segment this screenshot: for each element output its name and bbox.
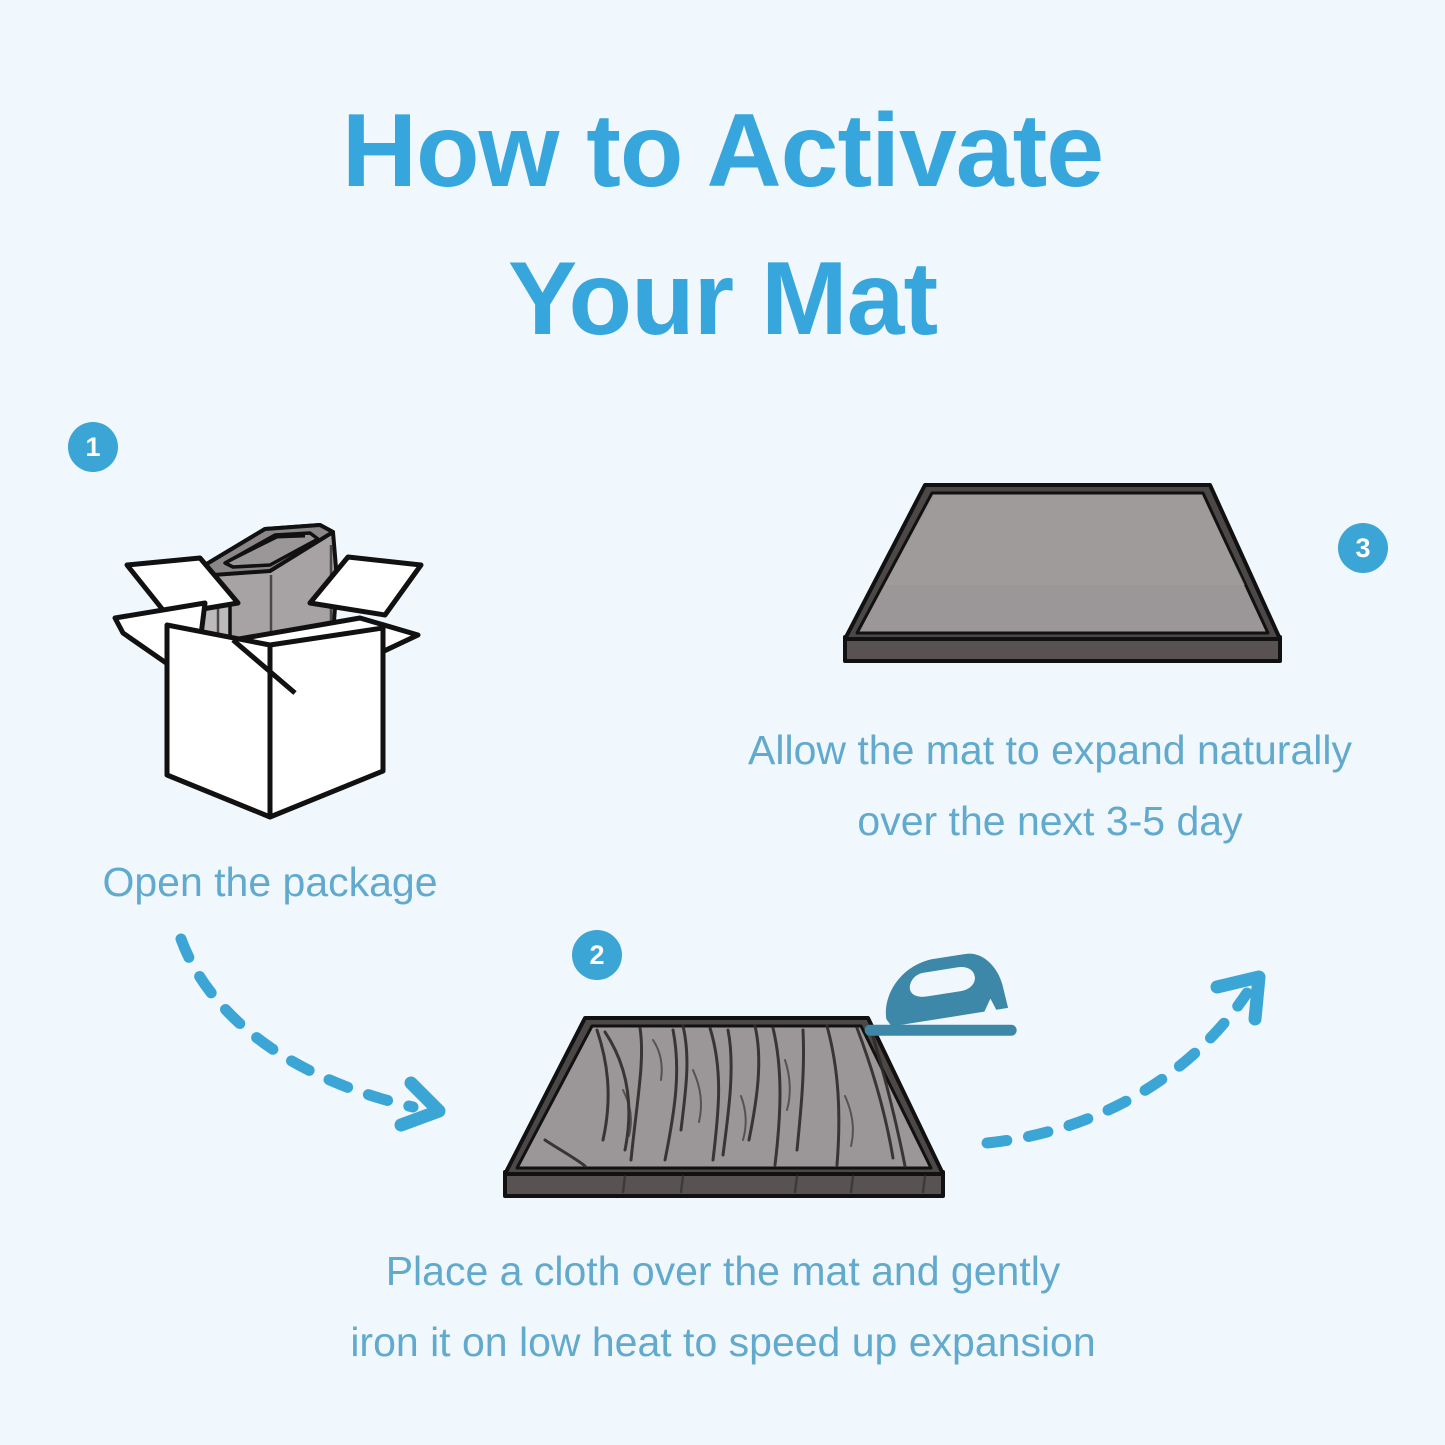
title-line-2: Your Mat: [0, 226, 1445, 374]
step-3-caption-line-1: Allow the mat to expand naturally: [655, 715, 1445, 786]
title-line-1: How to Activate: [0, 78, 1445, 226]
step-1-caption-line-1: Open the package: [0, 847, 540, 918]
infographic-canvas: How to Activate Your Mat 1 2 3: [0, 0, 1445, 1445]
step-3-caption-line-2: over the next 3-5 day: [655, 786, 1445, 857]
step-2-badge: 2: [572, 930, 622, 980]
step-1-caption: Open the package: [0, 847, 540, 918]
step-3-badge: 3: [1338, 523, 1388, 573]
open-box-with-packed-mat-icon: [105, 485, 435, 825]
flat-expanded-mat-icon: [825, 465, 1300, 680]
step-2-caption-line-1: Place a cloth over the mat and gently: [218, 1236, 1228, 1307]
dashed-curved-arrow-up-right-icon: [975, 955, 1295, 1165]
dashed-curved-arrow-down-right-icon: [165, 925, 485, 1140]
step-1-badge: 1: [68, 422, 118, 472]
step-3-caption: Allow the mat to expand naturally over t…: [655, 715, 1445, 856]
step-2-caption: Place a cloth over the mat and gently ir…: [218, 1236, 1228, 1377]
page-title: How to Activate Your Mat: [0, 78, 1445, 373]
step-2-caption-line-2: iron it on low heat to speed up expansio…: [218, 1307, 1228, 1378]
